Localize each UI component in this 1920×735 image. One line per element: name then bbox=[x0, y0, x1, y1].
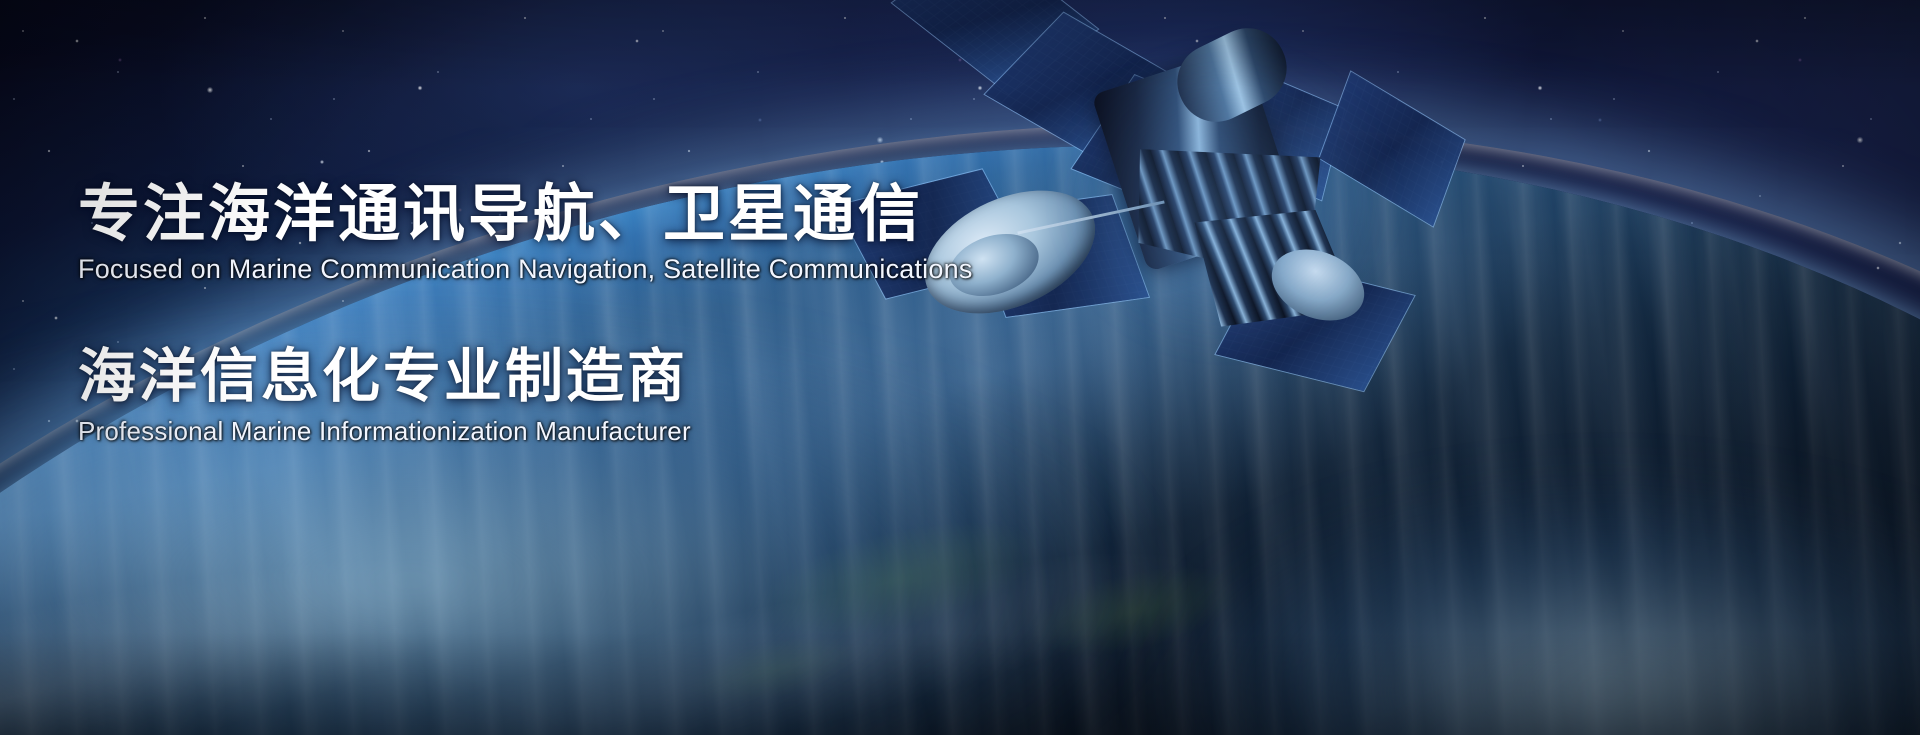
headline-english-2: Professional Marine Informationization M… bbox=[78, 414, 1178, 448]
headline-block-2: 海洋信息化专业制造商 Professional Marine Informati… bbox=[78, 344, 1178, 448]
headline-chinese-2: 海洋信息化专业制造商 bbox=[78, 344, 1178, 410]
headline-english-1: Focused on Marine Communication Navigati… bbox=[78, 252, 1178, 286]
headline-copy: 专注海洋通讯导航、卫星通信 Focused on Marine Communic… bbox=[78, 180, 1178, 448]
headline-chinese-1: 专注海洋通讯导航、卫星通信 bbox=[78, 180, 1178, 250]
hero-banner: 专注海洋通讯导航、卫星通信 Focused on Marine Communic… bbox=[0, 0, 1920, 735]
headline-block-1: 专注海洋通讯导航、卫星通信 Focused on Marine Communic… bbox=[78, 180, 1178, 286]
